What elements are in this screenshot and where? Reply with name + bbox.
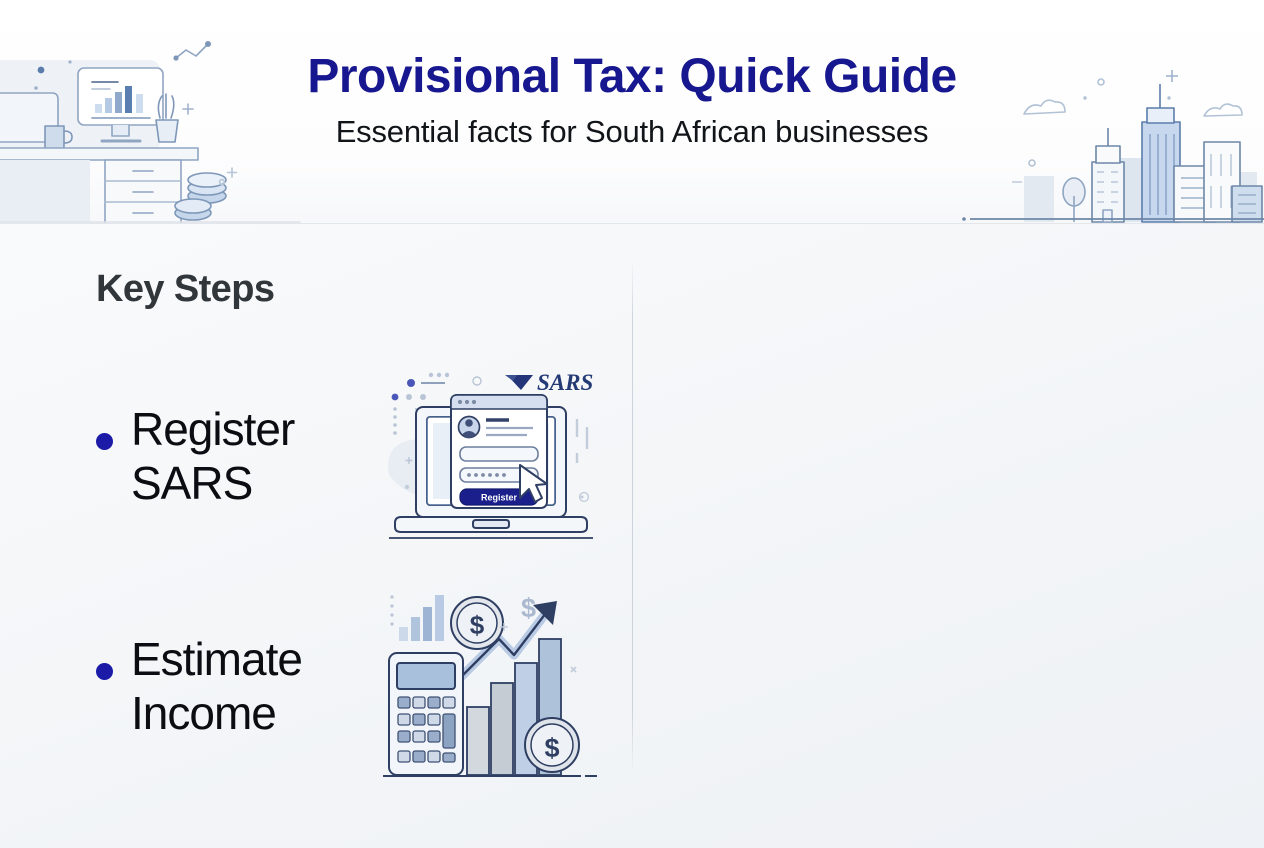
- svg-text:$: $: [470, 610, 485, 640]
- calculator-growth-chart-coins-icon: $: [381, 587, 607, 787]
- sars-registration-laptop-icon: SARS: [381, 357, 607, 557]
- list-item-estimate-income: Estimate Income: [96, 582, 606, 792]
- column-key-steps: Key Steps Register SARS: [0, 224, 632, 848]
- header-text-block: Provisional Tax: Quick Guide Essential f…: [0, 52, 1264, 150]
- page-subtitle: Essential facts for South African busine…: [0, 114, 1264, 150]
- page-title: Provisional Tax: Quick Guide: [0, 52, 1264, 102]
- sars-logo-icon: SARS: [505, 370, 593, 395]
- section-heading-key-steps: Key Steps: [96, 268, 274, 311]
- svg-text:$: $: [544, 733, 559, 763]
- column-deadlines: Deadlines 31 Aug: [632, 224, 1264, 848]
- svg-text:$: $: [521, 593, 536, 623]
- infographic-poster: Provisional Tax: Quick Guide Essential f…: [0, 0, 1264, 848]
- poster-body: Key Steps Register SARS: [0, 224, 1264, 848]
- svg-text:SARS: SARS: [537, 370, 593, 395]
- list-item-label: Estimate Income: [131, 633, 381, 741]
- bullet-dot-icon: [96, 433, 113, 450]
- svg-text:Register: Register: [481, 493, 518, 503]
- list-item-register-sars: Register SARS: [96, 352, 606, 562]
- bullet-dot-icon: [96, 663, 113, 680]
- list-item-label: Register SARS: [131, 403, 381, 511]
- poster-header: Provisional Tax: Quick Guide Essential f…: [0, 0, 1264, 224]
